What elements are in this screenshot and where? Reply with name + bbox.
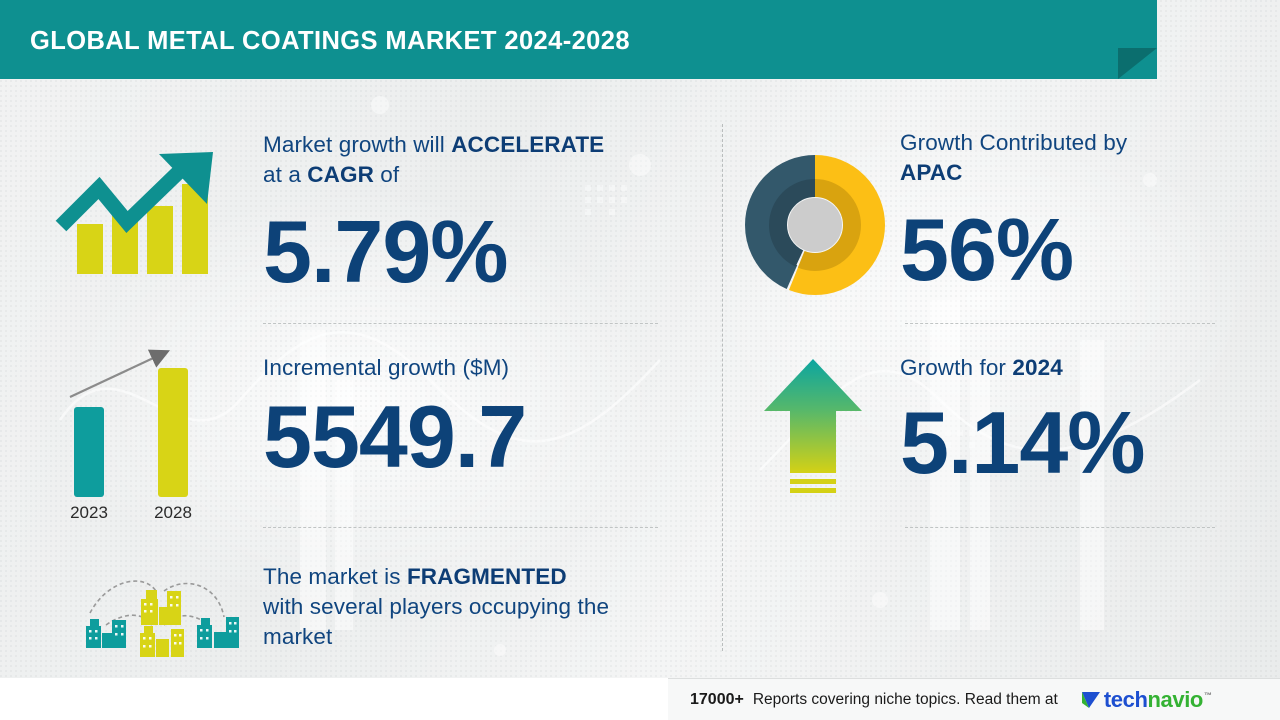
logo-text-navio: navio	[1147, 687, 1202, 712]
incremental-caption: Incremental growth ($M)	[263, 353, 683, 383]
cagr-text-group: Market growth will ACCELERATE at a CAGR …	[263, 130, 683, 292]
apac-caption-line1: Growth Contributed by	[900, 130, 1127, 155]
left-column: Market growth will ACCELERATE at a CAGR …	[40, 110, 700, 665]
footer-report-count: 17000+	[690, 691, 744, 709]
bar-label-2023: 2023	[70, 503, 108, 522]
incremental-text-group: Incremental growth ($M) 5549.7	[263, 353, 683, 477]
cagr-caption-normal-2: at a	[263, 162, 307, 187]
apac-caption-bold: APAC	[900, 160, 962, 185]
growth-2024-caption: Growth for 2024	[900, 353, 1230, 383]
right-column: Growth Contributed by APAC 56%	[740, 110, 1240, 655]
growth-bar-chart-arrow-icon	[55, 148, 225, 283]
fragmented-caption: The market is FRAGMENTED with several pl…	[263, 562, 693, 652]
logo-trademark: ™	[1204, 691, 1212, 700]
cagr-value: 5.79%	[263, 212, 683, 292]
cagr-caption-tail: of	[374, 162, 399, 187]
apac-caption: Growth Contributed by APAC	[900, 128, 1230, 188]
column-divider	[722, 124, 723, 651]
technavio-mark-icon	[1080, 689, 1102, 711]
bar-label-2028: 2028	[154, 503, 192, 522]
footer-left-strip	[0, 678, 668, 720]
logo-text-tech: tech	[1104, 687, 1148, 712]
gradient-up-arrow-icon	[758, 355, 868, 510]
fragmented-caption-normal: The market is	[263, 564, 407, 589]
growth-2024-caption-bold: 2024	[1012, 355, 1062, 380]
fragmented-caption-line2: with several players occupying the	[263, 594, 609, 619]
footer-bar: 17000+ Reports covering niche topics. Re…	[668, 678, 1280, 720]
connected-city-buildings-icon	[68, 563, 243, 668]
header-bar: GLOBAL METAL COATINGS MARKET 2024-2028	[0, 0, 1157, 79]
infographic-canvas: GLOBAL METAL COATINGS MARKET 2024-2028	[0, 0, 1280, 720]
cagr-caption-normal-1: Market growth will	[263, 132, 451, 157]
apac-text-group: Growth Contributed by APAC 56%	[900, 128, 1230, 290]
cagr-caption: Market growth will ACCELERATE at a CAGR …	[263, 130, 683, 190]
fragmented-caption-bold: FRAGMENTED	[407, 564, 567, 589]
fragmented-text-group: The market is FRAGMENTED with several pl…	[263, 562, 693, 652]
apac-value: 56%	[900, 210, 1230, 290]
growth-2024-caption-normal: Growth for	[900, 355, 1012, 380]
donut-chart-icon	[740, 150, 890, 305]
incremental-value: 5549.7	[263, 397, 683, 477]
growth-2024-text-group: Growth for 2024 5.14%	[900, 353, 1230, 483]
fragmented-caption-line3: market	[263, 624, 332, 649]
header-fold-corner	[1118, 48, 1157, 79]
two-bar-growth-icon: 2023 2028	[58, 335, 223, 530]
growth-2024-value: 5.14%	[900, 403, 1230, 483]
cagr-caption-bold-cagr: CAGR	[307, 162, 374, 187]
page-title: GLOBAL METAL COATINGS MARKET 2024-2028	[30, 27, 630, 56]
technavio-wordmark: technavio™	[1104, 687, 1212, 713]
cagr-caption-bold-accelerate: ACCELERATE	[451, 132, 604, 157]
footer-tagline: Reports covering niche topics. Read them…	[753, 691, 1058, 709]
technavio-logo[interactable]: technavio™	[1080, 687, 1212, 713]
